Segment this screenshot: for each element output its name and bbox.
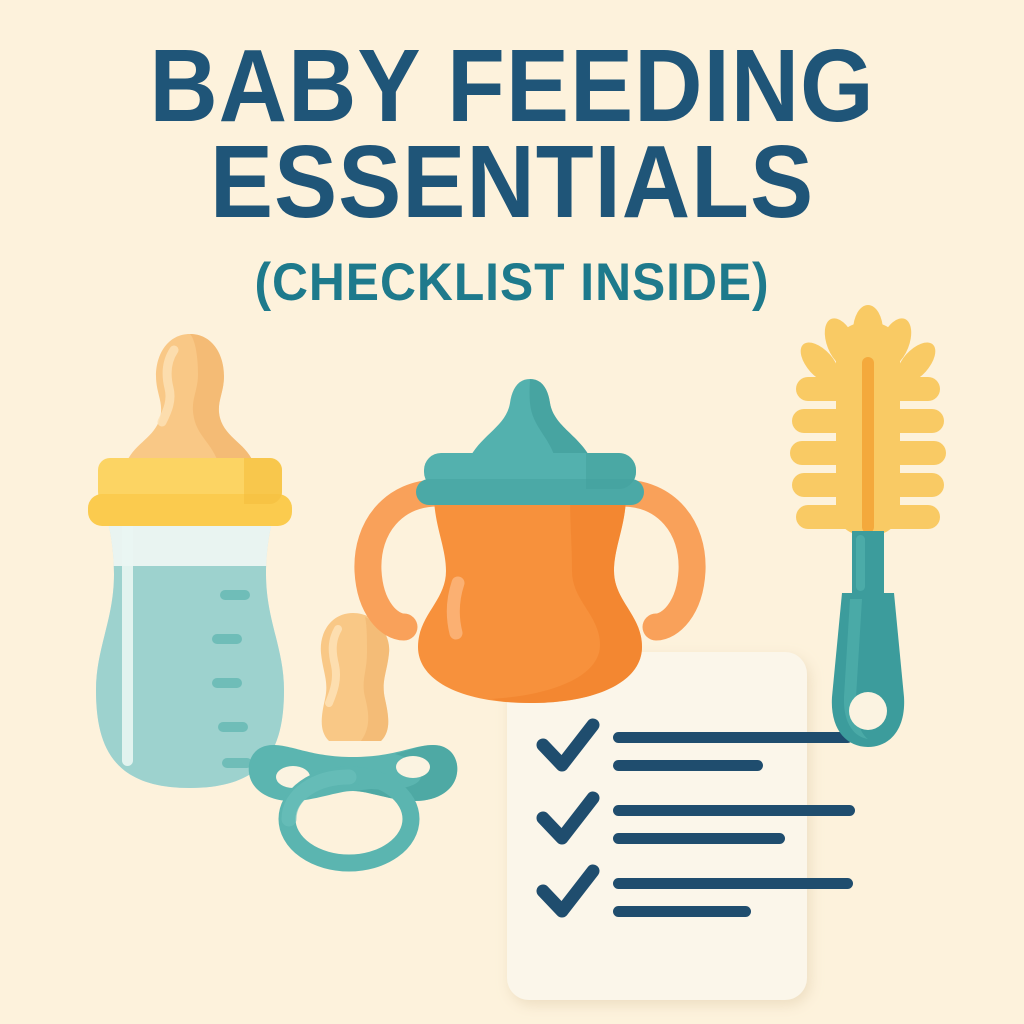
bottle-highlight (122, 514, 133, 766)
checklist-line-long (613, 805, 855, 816)
checklist-line-long (613, 878, 853, 889)
checklist-line-short (613, 906, 751, 917)
sippy-lid-shade (586, 453, 636, 489)
poster-canvas: BABY FEEDING ESSENTIALS (CHECKLIST INSID… (0, 0, 1024, 1024)
title-line-2: ESSENTIALS (41, 134, 983, 230)
bottle-cap-shade (244, 458, 282, 504)
title-line-1: BABY FEEDING (41, 38, 983, 134)
brush-spine (862, 357, 874, 533)
bottle-brush (778, 305, 958, 765)
measure-mark (218, 722, 248, 732)
page-title: BABY FEEDING ESSENTIALS (CHECKLIST INSID… (0, 38, 1024, 313)
subtitle: (CHECKLIST INSIDE) (31, 252, 994, 313)
measure-mark (212, 678, 242, 688)
measure-mark (212, 634, 242, 644)
checklist-line-short (613, 833, 785, 844)
shield-hole (396, 756, 430, 778)
sippy-handle-right (622, 493, 692, 627)
sippy-handle-left (368, 493, 438, 627)
sippy-body-highlight (453, 583, 458, 633)
sippy-cup (360, 375, 700, 725)
checklist-line-short (613, 760, 763, 771)
brush-neck-highlight (856, 535, 865, 591)
brush-hanging-hole (849, 692, 887, 730)
